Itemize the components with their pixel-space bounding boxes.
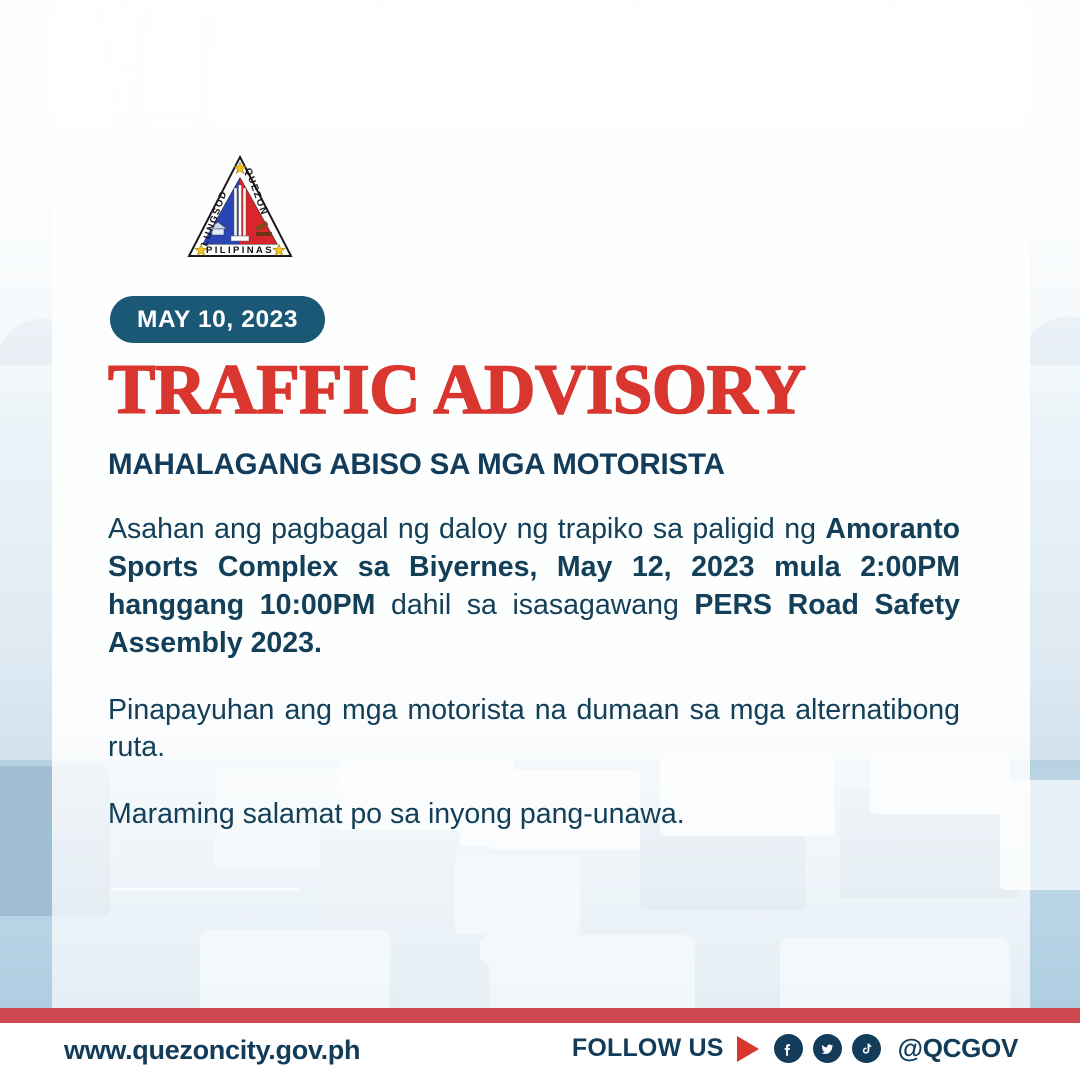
advisory-paragraph: Maraming salamat po sa inyong pang-unawa…: [108, 796, 960, 834]
body-text: dahil sa isasagawang: [375, 589, 694, 621]
footer-red-stripe: [0, 1008, 1080, 1023]
advisory-body: Asahan ang pagbagal ng daloy ng trapiko …: [108, 511, 960, 834]
body-text: Asahan ang pagbagal ng daloy ng trapiko …: [108, 513, 825, 545]
social-handle: @QCGOV: [898, 1033, 1018, 1064]
advisory-paragraph: Asahan ang pagbagal ng daloy ng trapiko …: [108, 511, 960, 663]
advisory-paragraph: Pinapayuhan ang mga motorista na dumaan …: [108, 692, 960, 768]
traffic-advisory-poster: LUNGSOD QUEZON PILIPINAS MAY 10, 2023 TR…: [0, 0, 1080, 1080]
body-text: Maraming salamat po sa inyong pang-unawa…: [108, 798, 685, 830]
date-badge: MAY 10, 2023: [110, 296, 325, 343]
page-title: TRAFFIC ADVISORY: [108, 355, 806, 426]
page-subtitle: MAHALAGANG ABISO SA MGA MOTORISTA: [108, 448, 725, 482]
quezon-city-seal-icon: LUNGSOD QUEZON PILIPINAS: [185, 152, 295, 270]
play-triangle-icon: [737, 1036, 759, 1062]
website-url[interactable]: www.quezoncity.gov.ph: [64, 1035, 360, 1066]
follow-us-label: FOLLOW US: [572, 1034, 724, 1063]
body-text: Pinapayuhan ang mga motorista na dumaan …: [108, 694, 960, 764]
tiktok-icon[interactable]: [852, 1034, 881, 1063]
facebook-icon[interactable]: [774, 1034, 803, 1063]
twitter-icon[interactable]: [813, 1034, 842, 1063]
poster-content: LUNGSOD QUEZON PILIPINAS MAY 10, 2023 TR…: [0, 0, 1080, 1080]
svg-text:PILIPINAS: PILIPINAS: [206, 245, 274, 256]
follow-us-group: FOLLOW US @QCGOV: [572, 1033, 1018, 1064]
